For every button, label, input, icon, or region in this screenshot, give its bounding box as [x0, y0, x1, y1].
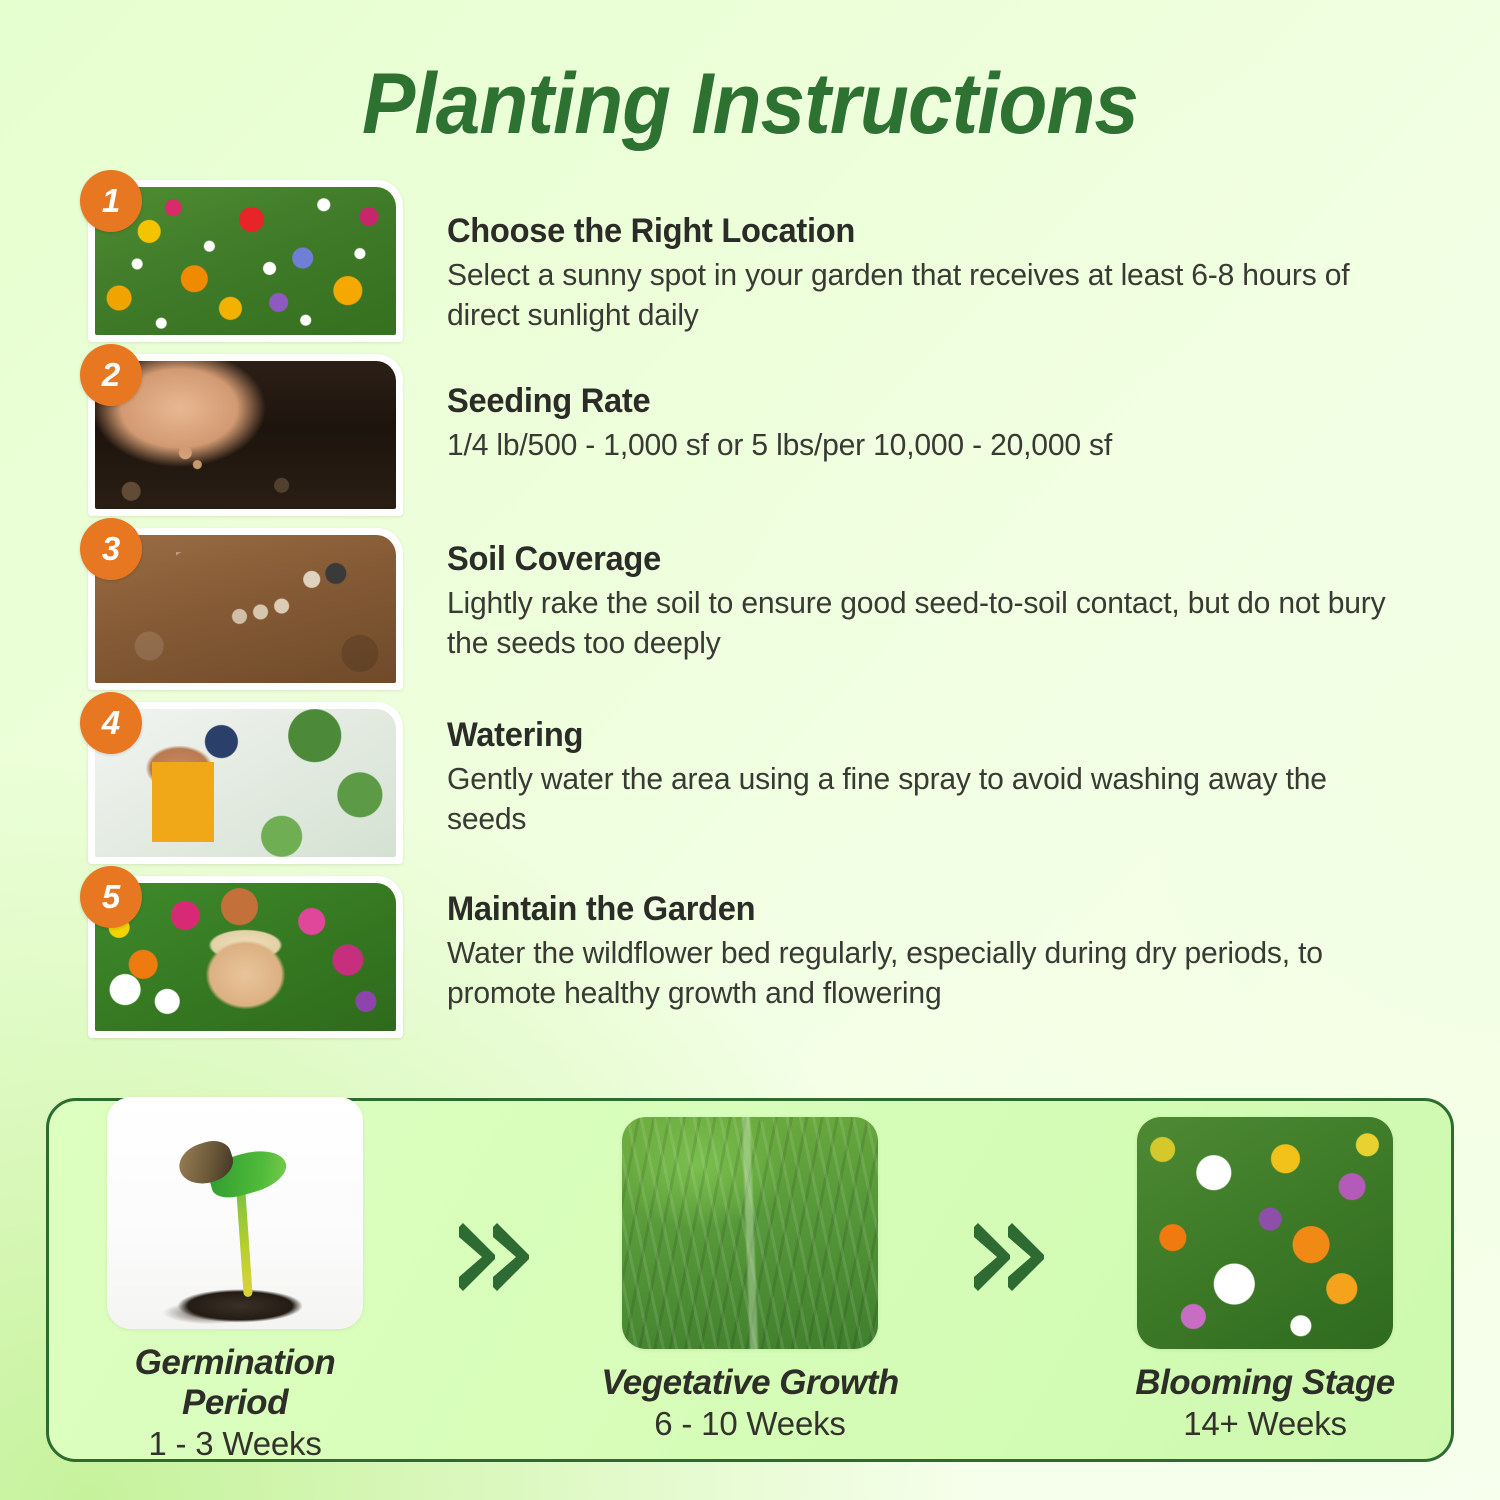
step-text-2: Seeding Rate 1/4 lb/500 - 1,000 sf or 5 … [433, 354, 1440, 465]
sprout-photo-art [107, 1097, 363, 1329]
planting-steps-list: 1 Choose the Right Location Select a sun… [0, 180, 1500, 1038]
stage-duration-germination: 1 - 3 Weeks [85, 1425, 385, 1463]
step-number-badge-5: 5 [80, 866, 142, 928]
step-title-3: Soil Coverage [447, 540, 1400, 579]
step-text-5: Maintain the Garden Water the wildflower… [433, 876, 1440, 1014]
step-thumbnail-5: 5 [88, 876, 403, 1038]
blooming-wildflowers-image [1137, 1117, 1393, 1349]
step-text-3: Soil Coverage Lightly rake the soil to e… [433, 528, 1440, 664]
step-thumbnail-4: 4 [88, 702, 403, 864]
step-text-1: Choose the Right Location Select a sunny… [433, 180, 1440, 336]
grass-photo-art [622, 1117, 878, 1349]
step-item-4: 4 Watering Gently water the area using a… [88, 702, 1440, 864]
step-item-3: 3 Soil Coverage Lightly rake the soil to… [88, 528, 1440, 690]
growth-timeline-panel: Germination Period 1 - 3 Weeks Vegetativ… [46, 1098, 1454, 1462]
step-description-1: Select a sunny spot in your garden that … [447, 255, 1410, 336]
step-number-badge-4: 4 [80, 692, 142, 754]
step-description-5: Water the wildflower bed regularly, espe… [447, 933, 1410, 1014]
step-number-badge-3: 3 [80, 518, 142, 580]
step-text-4: Watering Gently water the area using a f… [433, 702, 1440, 840]
step-thumbnail-wrapper-3: 3 [88, 528, 433, 690]
timeline-arrow-1 [445, 1221, 541, 1293]
bloom-photo-art [1137, 1117, 1393, 1349]
timeline-stage-blooming: Blooming Stage 14+ Weeks [1115, 1117, 1415, 1443]
step-thumbnail-2: 2 [88, 354, 403, 516]
step-thumbnail-wrapper-1: 1 [88, 180, 433, 342]
step-title-1: Choose the Right Location [447, 212, 1400, 251]
step-item-2: 2 Seeding Rate 1/4 lb/500 - 1,000 sf or … [88, 354, 1440, 516]
timeline-stage-vegetative: Vegetative Growth 6 - 10 Weeks [600, 1117, 900, 1443]
stage-duration-blooming: 14+ Weeks [1115, 1405, 1415, 1443]
step-title-4: Watering [447, 716, 1400, 755]
stage-name-blooming: Blooming Stage [1115, 1363, 1415, 1403]
step-description-2: 1/4 lb/500 - 1,000 sf or 5 lbs/per 10,00… [447, 425, 1410, 465]
green-grass-image [622, 1117, 878, 1349]
double-chevron-right-icon [453, 1221, 533, 1293]
step-thumbnail-wrapper-5: 5 [88, 876, 433, 1038]
step-number-badge-1: 1 [80, 170, 142, 232]
step-thumbnail-3: 3 [88, 528, 403, 690]
step-item-1: 1 Choose the Right Location Select a sun… [88, 180, 1440, 342]
stage-duration-vegetative: 6 - 10 Weeks [600, 1405, 900, 1443]
step-thumbnail-wrapper-2: 2 [88, 354, 433, 516]
step-thumbnail-1: 1 [88, 180, 403, 342]
step-description-4: Gently water the area using a fine spray… [447, 759, 1410, 840]
double-chevron-right-icon [968, 1221, 1048, 1293]
sprout-stem-shape [236, 1190, 252, 1297]
stage-name-vegetative: Vegetative Growth [600, 1363, 900, 1403]
timeline-arrow-2 [960, 1221, 1056, 1293]
seedling-sprout-image [107, 1097, 363, 1329]
step-title-5: Maintain the Garden [447, 890, 1400, 929]
page-title: Planting Instructions [53, 55, 1448, 154]
step-title-2: Seeding Rate [447, 382, 1400, 421]
page-header: Planting Instructions [0, 0, 1500, 154]
step-thumbnail-wrapper-4: 4 [88, 702, 433, 864]
step-item-5: 5 Maintain the Garden Water the wildflow… [88, 876, 1440, 1038]
timeline-stage-germination: Germination Period 1 - 3 Weeks [85, 1097, 385, 1463]
step-number-badge-2: 2 [80, 344, 142, 406]
step-description-3: Lightly rake the soil to ensure good see… [447, 583, 1410, 664]
stage-name-germination: Germination Period [85, 1343, 385, 1423]
